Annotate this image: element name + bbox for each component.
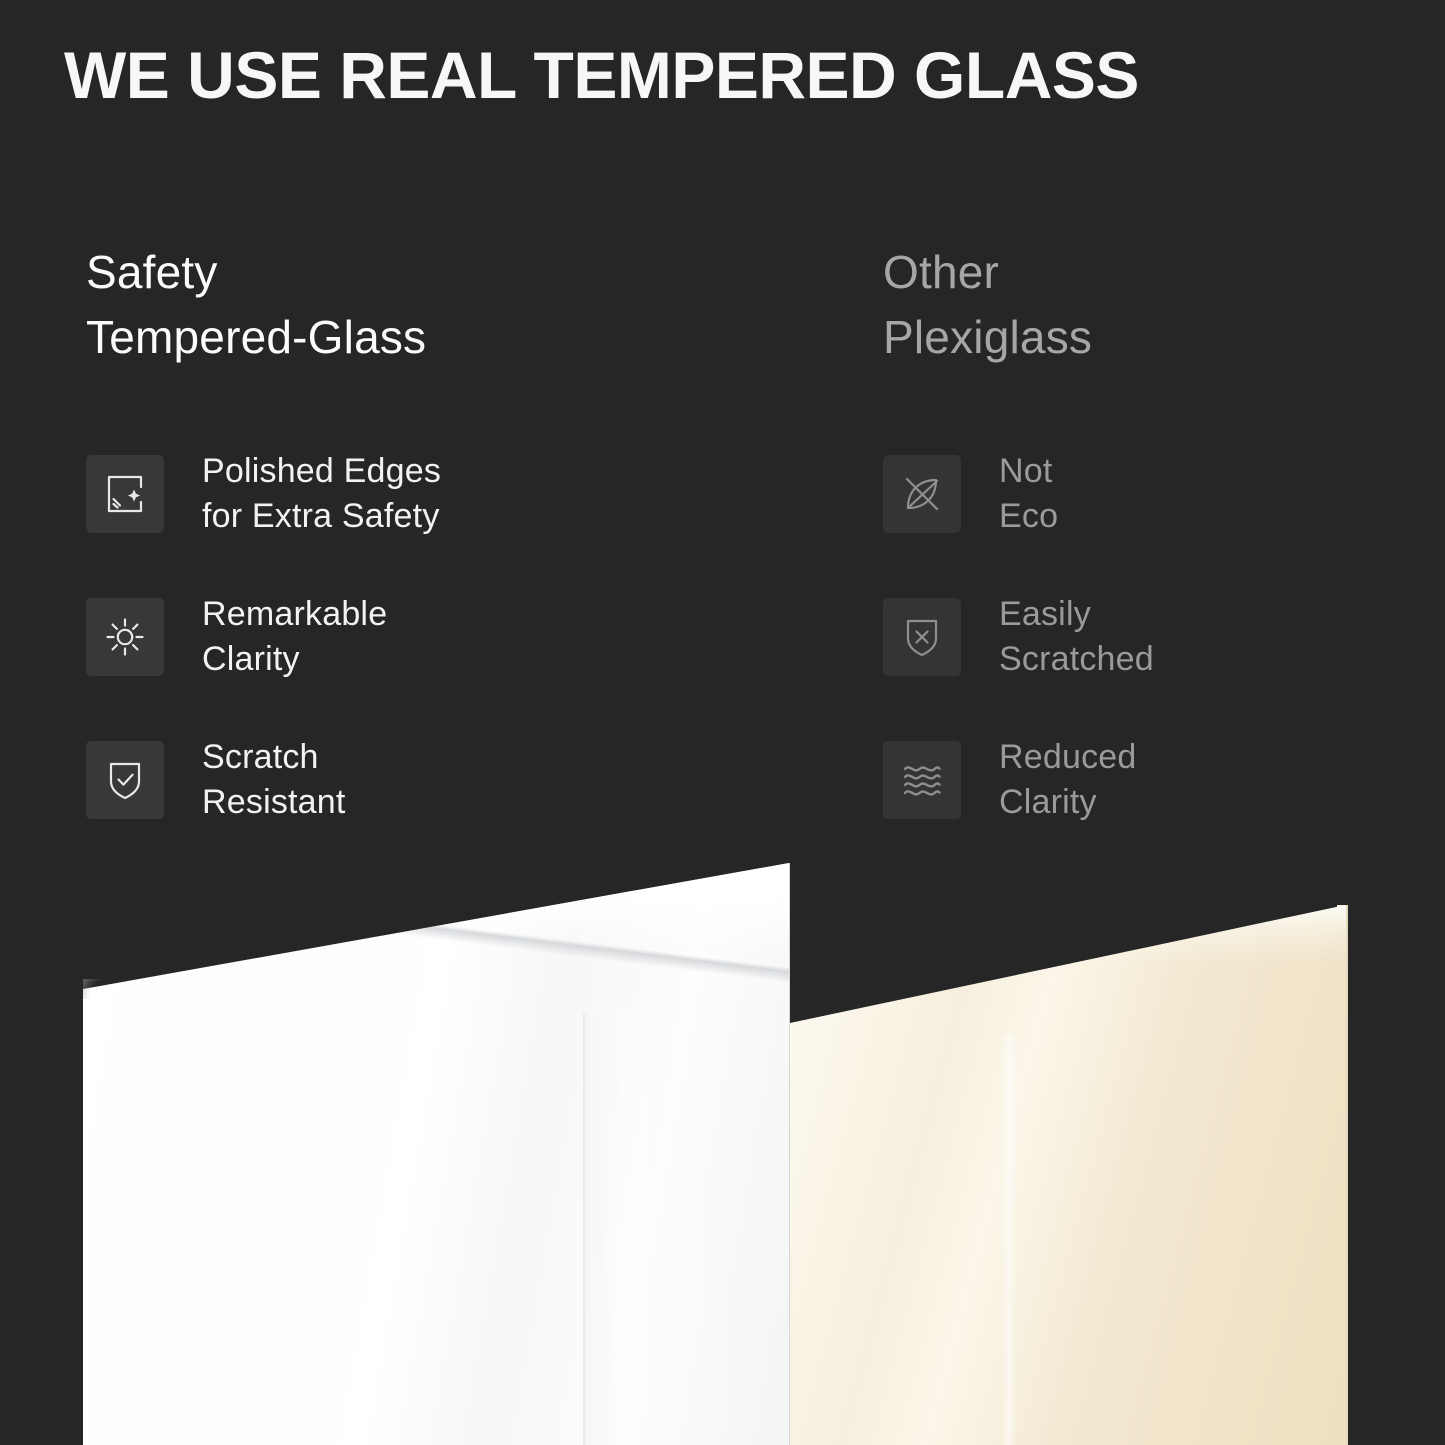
feature-remarkable-clarity: Remarkable Clarity bbox=[86, 588, 786, 686]
feature-list-plexiglass: Not Eco Easily Scratched bbox=[883, 445, 1403, 829]
shield-check-icon bbox=[86, 741, 164, 819]
product-comparison-infographic: WE USE REAL TEMPERED GLASS Safety Temper… bbox=[0, 0, 1445, 1445]
sun-clarity-icon bbox=[86, 598, 164, 676]
product-photo bbox=[0, 845, 1445, 1445]
page-title: WE USE REAL TEMPERED GLASS bbox=[64, 42, 1394, 108]
leaf-crossed-out-icon bbox=[883, 455, 961, 533]
polished-glass-pane-icon bbox=[86, 455, 164, 533]
tempered-glass-corner-highlight bbox=[83, 979, 109, 999]
plexiglass-panel bbox=[790, 905, 1346, 1445]
feature-label: Not Eco bbox=[999, 449, 1058, 539]
wavy-lines-icon bbox=[883, 741, 961, 819]
feature-label: Scratch Resistant bbox=[202, 735, 346, 825]
column-plexiglass: Other Plexiglass Not Eco bbox=[883, 240, 1403, 371]
feature-label: Reduced Clarity bbox=[999, 735, 1137, 825]
feature-polished-edges: Polished Edges for Extra Safety bbox=[86, 445, 786, 543]
tempered-glass-panel bbox=[83, 863, 789, 1445]
shield-x-icon bbox=[883, 598, 961, 676]
feature-easily-scratched: Easily Scratched bbox=[883, 588, 1403, 686]
feature-label: Easily Scratched bbox=[999, 592, 1154, 682]
feature-scratch-resistant: Scratch Resistant bbox=[86, 731, 786, 829]
column-tempered-glass: Safety Tempered-Glass Polished Edges for… bbox=[86, 240, 786, 371]
feature-reduced-clarity: Reduced Clarity bbox=[883, 731, 1403, 829]
feature-label: Remarkable Clarity bbox=[202, 592, 387, 682]
feature-list-tempered-glass: Polished Edges for Extra Safety bbox=[86, 445, 786, 829]
feature-not-eco: Not Eco bbox=[883, 445, 1403, 543]
column-title-plexiglass: Other Plexiglass bbox=[883, 240, 1403, 371]
feature-label: Polished Edges for Extra Safety bbox=[202, 449, 441, 539]
column-title-tempered-glass: Safety Tempered-Glass bbox=[86, 240, 786, 371]
